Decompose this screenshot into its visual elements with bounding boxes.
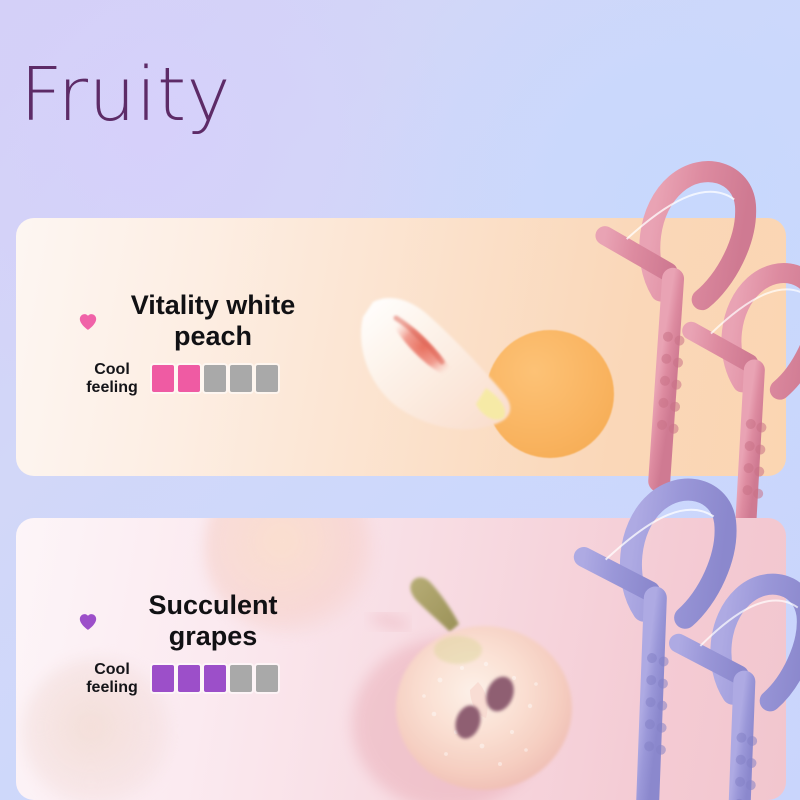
meter-bar-filled xyxy=(152,665,174,692)
meter-bar-filled xyxy=(178,365,200,392)
flavor-card-grape[interactable]: Succulent grapes Cool feeling xyxy=(16,518,786,800)
poster-canvas: Fruity xyxy=(0,0,800,800)
meter-bar-filled xyxy=(204,665,226,692)
flavor-title-row-grape: Succulent grapes xyxy=(78,590,322,653)
heart-icon xyxy=(78,312,98,332)
cool-feeling-label-line2: feeling xyxy=(86,379,138,396)
flavor-title-row-peach: Vitality white peach xyxy=(78,290,322,353)
flavor-text-block-grape: Succulent grapes Cool feeling xyxy=(78,590,322,696)
cool-feeling-label-line1: Cool xyxy=(94,361,130,378)
cool-feeling-label-line2: feeling xyxy=(86,679,138,696)
meter-bar-empty xyxy=(204,365,226,392)
cool-feeling-meter-peach: Cool feeling xyxy=(78,361,322,397)
flavor-card-peach[interactable]: Vitality white peach Cool feeling xyxy=(16,218,786,476)
heart-icon xyxy=(78,612,98,632)
cool-feeling-label-line1: Cool xyxy=(94,661,130,678)
flavor-title: Vitality white peach xyxy=(104,290,322,353)
meter-bar-empty xyxy=(256,665,278,692)
flavor-title: Succulent grapes xyxy=(104,590,322,653)
cool-feeling-meter-grape: Cool feeling xyxy=(78,661,322,697)
flavor-text-block-peach: Vitality white peach Cool feeling xyxy=(78,290,322,396)
meter-bar-filled xyxy=(152,365,174,392)
cool-feeling-label: Cool feeling xyxy=(78,361,146,397)
page-title: Fruity xyxy=(20,58,231,132)
meter-bar-empty xyxy=(256,365,278,392)
meter-bar-empty xyxy=(230,665,252,692)
meter-bar-filled xyxy=(178,665,200,692)
cool-feeling-bars xyxy=(152,665,278,692)
cool-feeling-label: Cool feeling xyxy=(78,661,146,697)
cool-feeling-bars xyxy=(152,365,278,392)
meter-bar-empty xyxy=(230,365,252,392)
